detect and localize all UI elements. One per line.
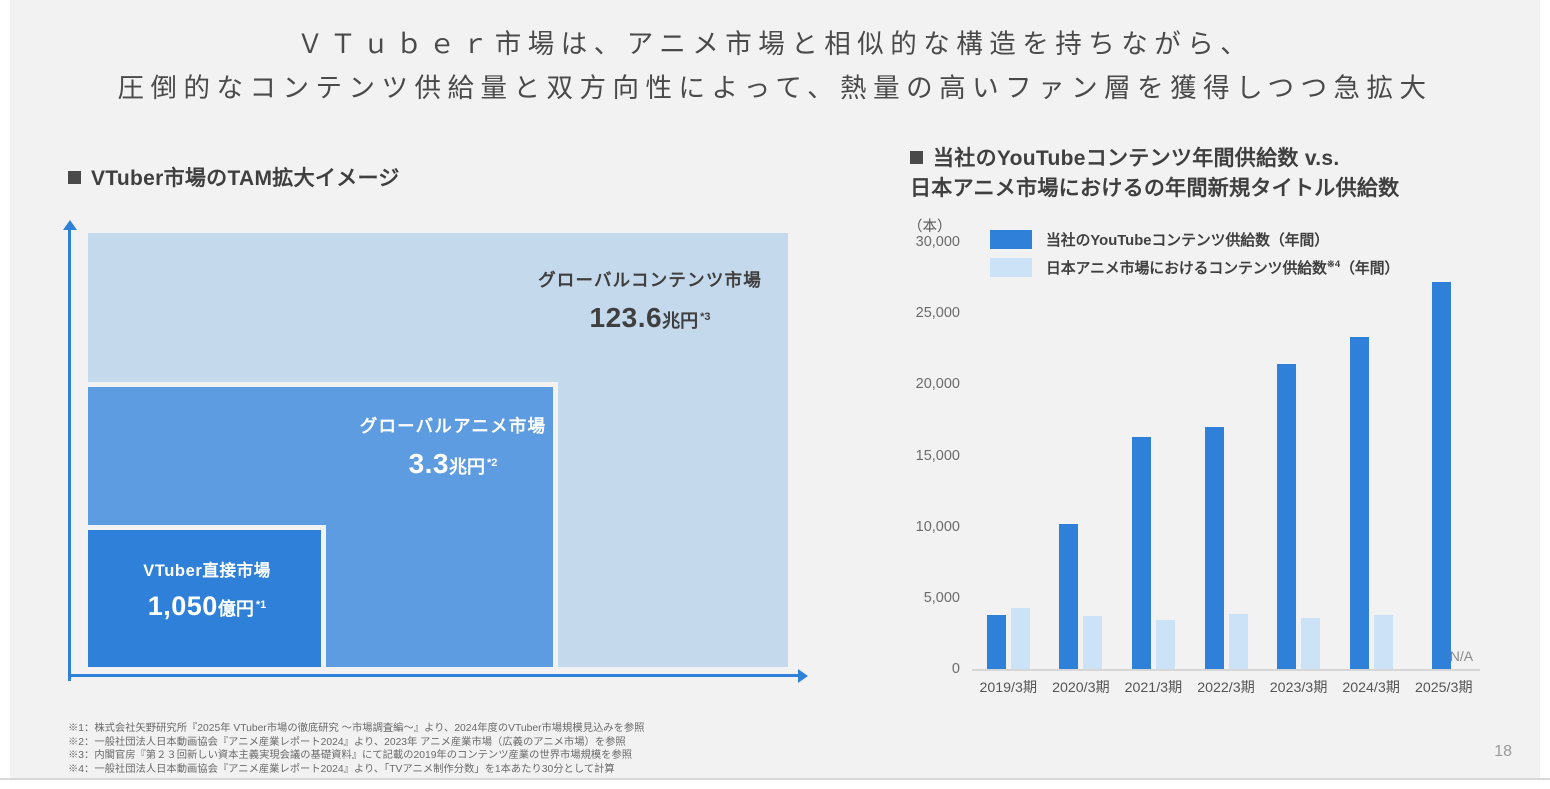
left-heading-text: VTuber市場のTAM拡大イメージ [91, 167, 400, 190]
x-axis-label-2021/3期: 2021/3期 [1117, 677, 1190, 697]
tam-label-global-content-unit: 兆円 [662, 311, 698, 331]
bar-2021/3期-s1[interactable] [1156, 620, 1175, 669]
right-heading-line2: 日本アニメ市場におけるの年間新規タイトル供給数 [910, 174, 1399, 204]
bar-group-2024/3期 [1335, 242, 1408, 669]
tam-label-vtuber-direct: VTuber直接市場 1,050億円*1 [88, 557, 326, 622]
tam-label-global-content-value: 123.6 [590, 302, 663, 333]
slide-edge-left [0, 0, 10, 789]
bar-2022/3期-s1[interactable] [1229, 614, 1248, 669]
y-axis-tick-20000: 20,000 [916, 376, 960, 392]
tam-label-vtuber-direct-ref: *1 [256, 599, 266, 611]
tam-y-axis-arrow [68, 229, 71, 681]
tam-x-axis-arrow [69, 674, 799, 677]
bar-group-2025/3期: N/A [1407, 242, 1480, 669]
tam-label-global-anime-unit: 兆円 [449, 457, 485, 477]
tam-diagram: グローバルコンテンツ市場 123.6兆円*3 グローバルアニメ市場 3.3兆円*… [60, 225, 820, 690]
y-axis-tick-15000: 15,000 [916, 448, 960, 464]
bar-2024/3期-s1[interactable] [1374, 615, 1393, 669]
x-axis-label-2020/3期: 2020/3期 [1045, 677, 1118, 697]
chart-baseline [972, 669, 1480, 671]
tam-label-vtuber-direct-unit: 億円 [218, 599, 254, 619]
x-axis-label-2025/3期: 2025/3期 [1407, 677, 1480, 697]
footnotes: ※1：株式会社矢野研究所『2025年 VTuber市場の徹底研究 ～市場調査編～… [68, 722, 644, 776]
bar-group-2019/3期 [972, 242, 1045, 669]
chart-bars: N/A [972, 242, 1480, 669]
title-line-2: 圧倒的なコンテンツ供給量と双方向性によって、熱量の高いファン層を獲得しつつ急拡大 [0, 66, 1550, 110]
bar-na-label: N/A [1450, 648, 1473, 664]
bar-group-2023/3期 [1262, 242, 1335, 669]
right-heading-line1: 当社のYouTubeコンテンツ年間供給数 v.s. [933, 147, 1340, 170]
bar-chart: （本） 当社のYouTubeコンテンツ供給数（年間）日本アニメ市場におけるコンテ… [890, 215, 1490, 705]
y-axis-tick-30000: 30,000 [916, 234, 960, 250]
title-line-1: ＶＴｕｂｅｒ市場は、アニメ市場と相似的な構造を持ちながら、 [0, 22, 1550, 66]
y-axis-tick-5000: 5,000 [924, 590, 960, 606]
bar-2023/3期-s1[interactable] [1301, 618, 1320, 669]
bar-group-2021/3期 [1117, 242, 1190, 669]
chart-y-axis: 30,00025,00020,00015,00010,0005,0000 [890, 242, 968, 669]
left-section-heading: VTuber市場のTAM拡大イメージ [68, 162, 400, 192]
page-number: 18 [1494, 743, 1512, 761]
x-axis-label-2022/3期: 2022/3期 [1190, 677, 1263, 697]
bar-2021/3期-s0[interactable] [1132, 437, 1151, 669]
slide-title: ＶＴｕｂｅｒ市場は、アニメ市場と相似的な構造を持ちながら、 圧倒的なコンテンツ供… [0, 22, 1550, 110]
bar-2020/3期-s1[interactable] [1083, 616, 1102, 669]
bullet-square-icon [68, 171, 81, 184]
slide-edge-right [1540, 0, 1550, 789]
y-axis-tick-0: 0 [952, 661, 960, 677]
chart-unit-label: （本） [908, 215, 952, 236]
bar-2025/3期-s0[interactable] [1432, 282, 1451, 669]
bar-2019/3期-s0[interactable] [987, 615, 1006, 669]
tam-label-global-content-ref: *3 [700, 311, 710, 323]
bar-group-2022/3期 [1190, 242, 1263, 669]
bar-2022/3期-s0[interactable] [1205, 427, 1224, 669]
y-axis-tick-10000: 10,000 [916, 519, 960, 535]
chart-x-axis: 2019/3期2020/3期2021/3期2022/3期2023/3期2024/… [972, 677, 1480, 697]
footnote-3: ※3：内閣官房『第２３回新しい資本主義実現会議の基礎資料』にて記載の2019年の… [68, 749, 644, 763]
tam-label-global-content-name: グローバルコンテンツ市場 [500, 267, 800, 292]
tam-label-vtuber-direct-value: 1,050 [148, 591, 218, 621]
tam-label-global-anime-value: 3.3 [409, 448, 449, 479]
y-axis-tick-25000: 25,000 [916, 305, 960, 321]
bar-group-2020/3期 [1045, 242, 1118, 669]
footnote-1: ※1：株式会社矢野研究所『2025年 VTuber市場の徹底研究 ～市場調査編～… [68, 722, 644, 736]
bar-2019/3期-s1[interactable] [1011, 608, 1030, 669]
tam-label-global-anime-ref: *2 [487, 457, 497, 469]
bullet-square-icon-2 [910, 151, 923, 164]
bar-2020/3期-s0[interactable] [1059, 524, 1078, 669]
footnote-2: ※2：一般社団法人日本動画協会『アニメ産業レポート2024』より、2023年 ア… [68, 736, 644, 750]
bar-2023/3期-s0[interactable] [1277, 364, 1296, 669]
x-axis-label-2024/3期: 2024/3期 [1335, 677, 1408, 697]
tam-label-global-anime-name: グローバルアニメ市場 [328, 413, 578, 438]
slide: ＶＴｕｂｅｒ市場は、アニメ市場と相似的な構造を持ちながら、 圧倒的なコンテンツ供… [0, 0, 1550, 789]
right-section-heading: 当社のYouTubeコンテンツ年間供給数 v.s. 日本アニメ市場におけるの年間… [910, 144, 1399, 204]
chart-plot-area: N/A [972, 242, 1480, 669]
slide-edge-bottom [0, 780, 1550, 789]
footnote-4: ※4：一般社団法人日本動画協会『アニメ産業レポート2024』より、「TVアニメ制… [68, 763, 644, 777]
tam-label-global-anime: グローバルアニメ市場 3.3兆円*2 [328, 413, 578, 480]
tam-label-global-content: グローバルコンテンツ市場 123.6兆円*3 [500, 267, 800, 334]
bar-2024/3期-s0[interactable] [1350, 337, 1369, 669]
x-axis-label-2019/3期: 2019/3期 [972, 677, 1045, 697]
x-axis-label-2023/3期: 2023/3期 [1262, 677, 1335, 697]
tam-label-vtuber-direct-name: VTuber直接市場 [88, 557, 326, 581]
